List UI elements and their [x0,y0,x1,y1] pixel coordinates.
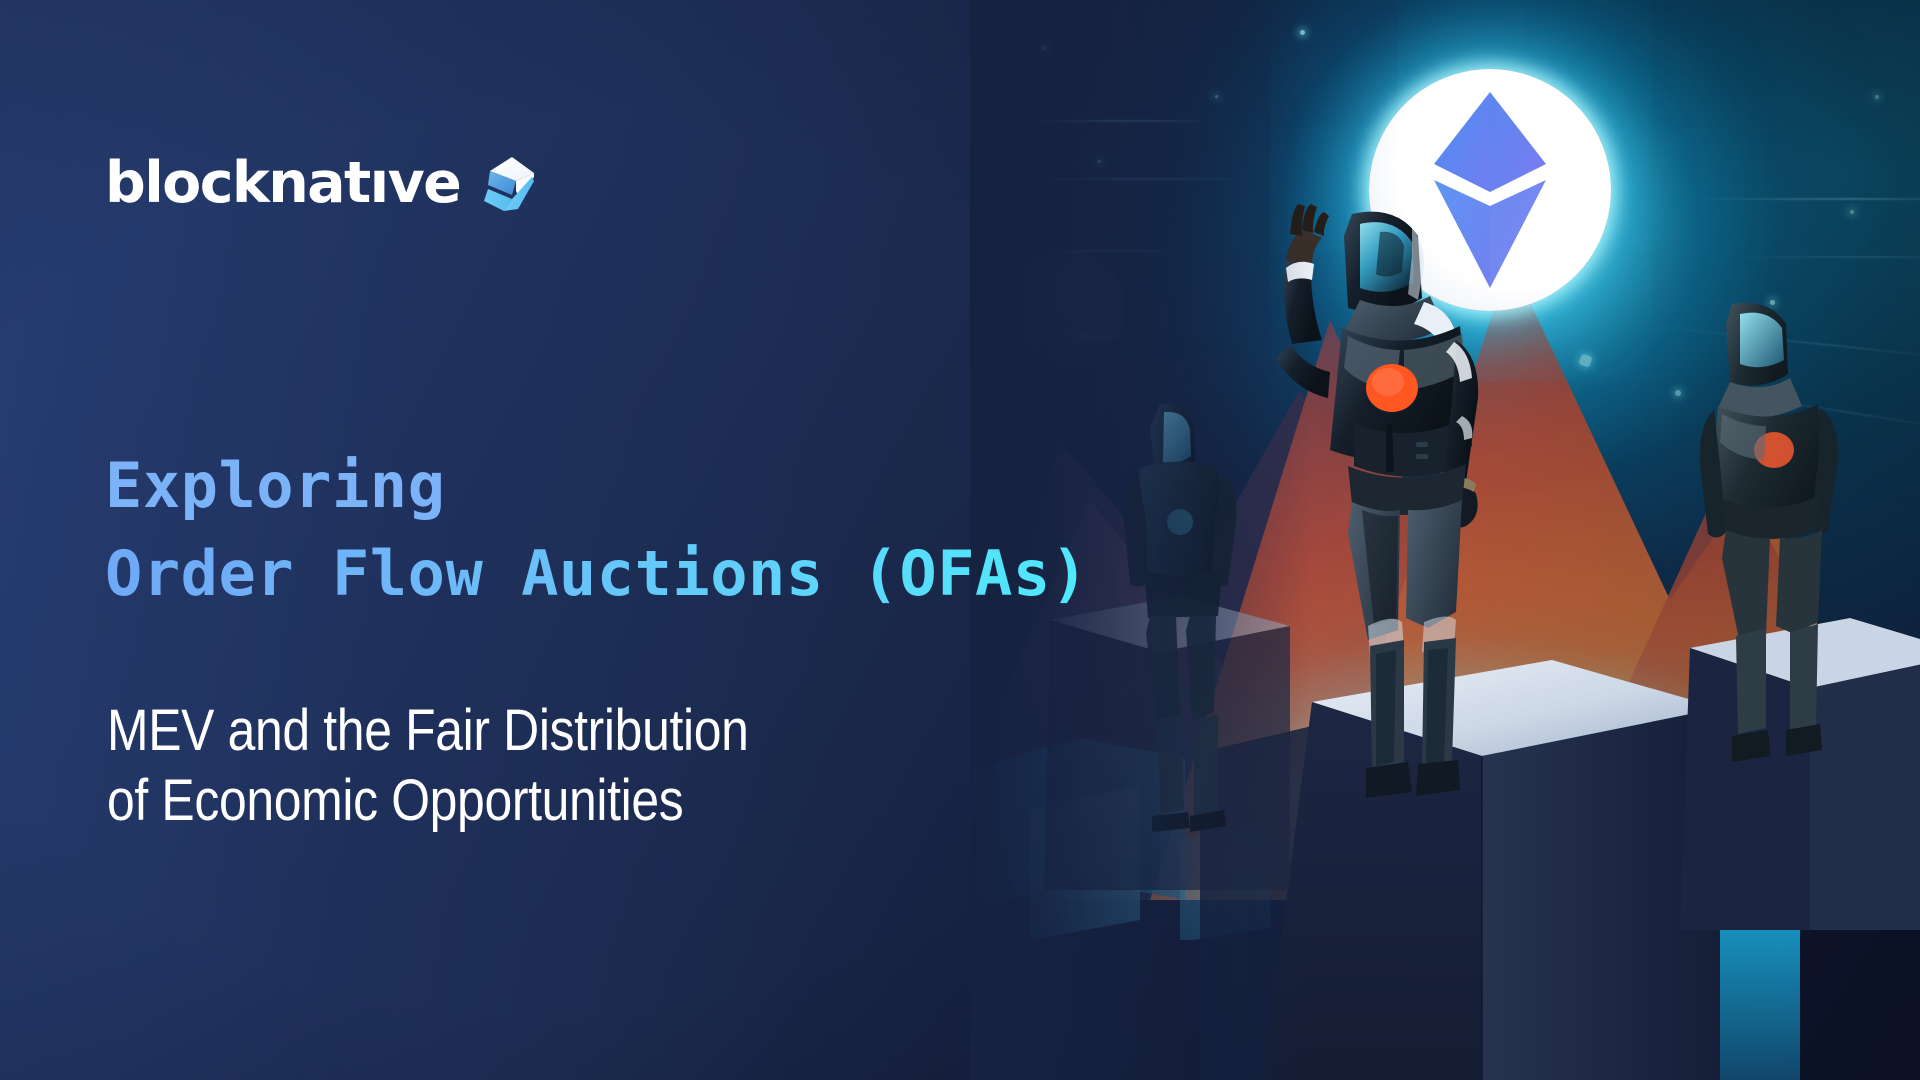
hero-content: blocknatıve [0,0,1920,1080]
hero-banner: blocknatıve [0,0,1920,1080]
headline-line-2: Order Flow Auctions (OFAs) [105,530,1089,618]
brand-wordmark: blocknatıve [105,155,460,212]
subtitle-line-1: MEV and the Fair Distribution [107,696,749,766]
page-title: Exploring Order Flow Auctions (OFAs) [105,442,1089,618]
subtitle-line-2: of Economic Opportunities [107,766,749,836]
blocknative-cube-arrow-logo [482,155,540,211]
blocknative-logo[interactable]: blocknatıve [105,152,540,214]
headline-line-1: Exploring [105,442,1089,530]
page-subtitle: MEV and the Fair Distribution of Economi… [107,696,749,836]
